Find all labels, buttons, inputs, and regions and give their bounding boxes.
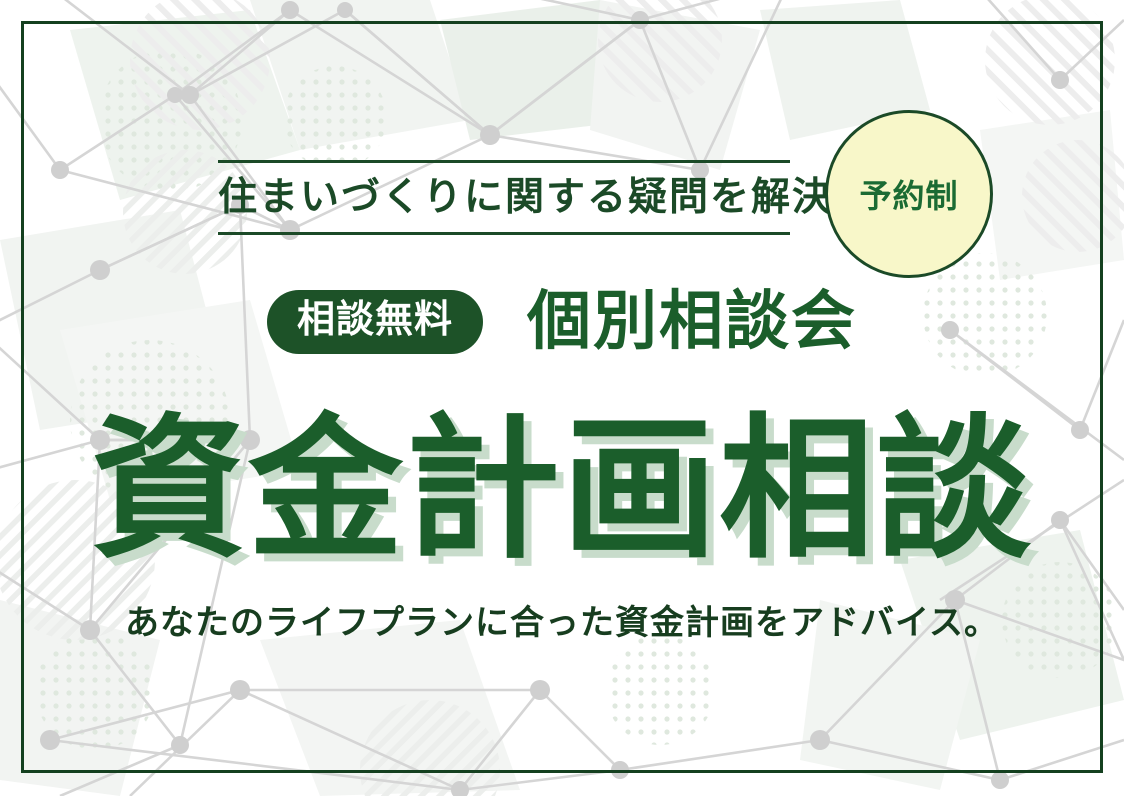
reservation-badge: 予約制 <box>825 110 993 278</box>
promo-banner: 住まいづくりに関する疑問を解決！ 予約制 相談無料 個別相談会 資金計画相談 あ… <box>0 0 1124 796</box>
reservation-badge-label: 予約制 <box>859 171 958 217</box>
lead-text: 住まいづくりに関する疑問を解決！ <box>218 163 790 232</box>
rule-bottom <box>218 232 790 235</box>
main-headline: 資金計画相談 <box>0 412 1124 567</box>
banner-content: 住まいづくりに関する疑問を解決！ 予約制 相談無料 個別相談会 資金計画相談 あ… <box>0 0 1124 796</box>
tagline: あなたのライフプランに合った資金計画をアドバイス。 <box>0 600 1124 648</box>
lead-block: 住まいづくりに関する疑問を解決！ <box>218 160 790 235</box>
subtitle-row: 相談無料 個別相談会 <box>0 288 1124 355</box>
free-consultation-badge: 相談無料 <box>267 290 483 354</box>
meeting-title: 個別相談会 <box>527 288 857 355</box>
